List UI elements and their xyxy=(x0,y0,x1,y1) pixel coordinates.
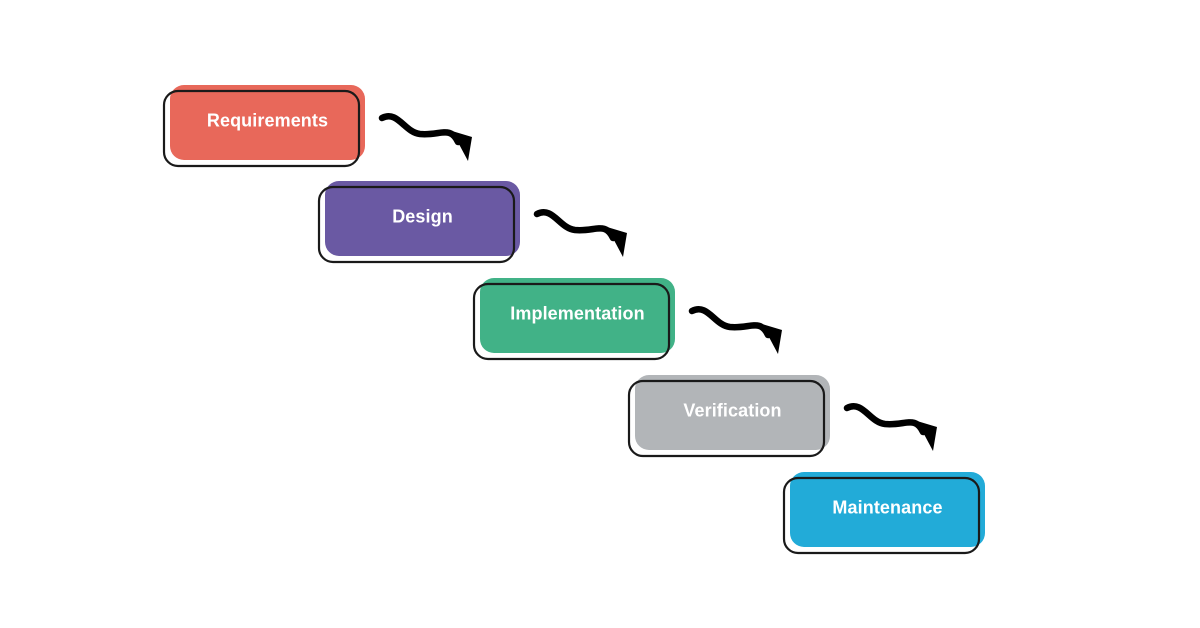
stage-label-requirements: Requirements xyxy=(207,110,328,130)
arrow-design-implementation-icon xyxy=(537,212,627,257)
stage-verification[interactable]: Verification xyxy=(629,375,830,456)
stage-maintenance[interactable]: Maintenance xyxy=(784,472,985,553)
stage-implementation[interactable]: Implementation xyxy=(474,278,675,359)
stage-design[interactable]: Design xyxy=(319,181,520,262)
stage-requirements[interactable]: Requirements xyxy=(164,85,365,166)
arrow-requirements-design-icon xyxy=(382,116,472,161)
stage-label-implementation: Implementation xyxy=(510,303,644,323)
arrow-verification-maintenance-icon xyxy=(847,406,937,451)
diagram-canvas: Requirements Design Implementation xyxy=(0,0,1200,628)
waterfall-diagram: Requirements Design Implementation xyxy=(0,0,1200,628)
stage-label-verification: Verification xyxy=(683,400,781,420)
stage-label-maintenance: Maintenance xyxy=(832,497,942,517)
arrow-implementation-verification-icon xyxy=(692,309,782,354)
stage-label-design: Design xyxy=(392,206,453,226)
